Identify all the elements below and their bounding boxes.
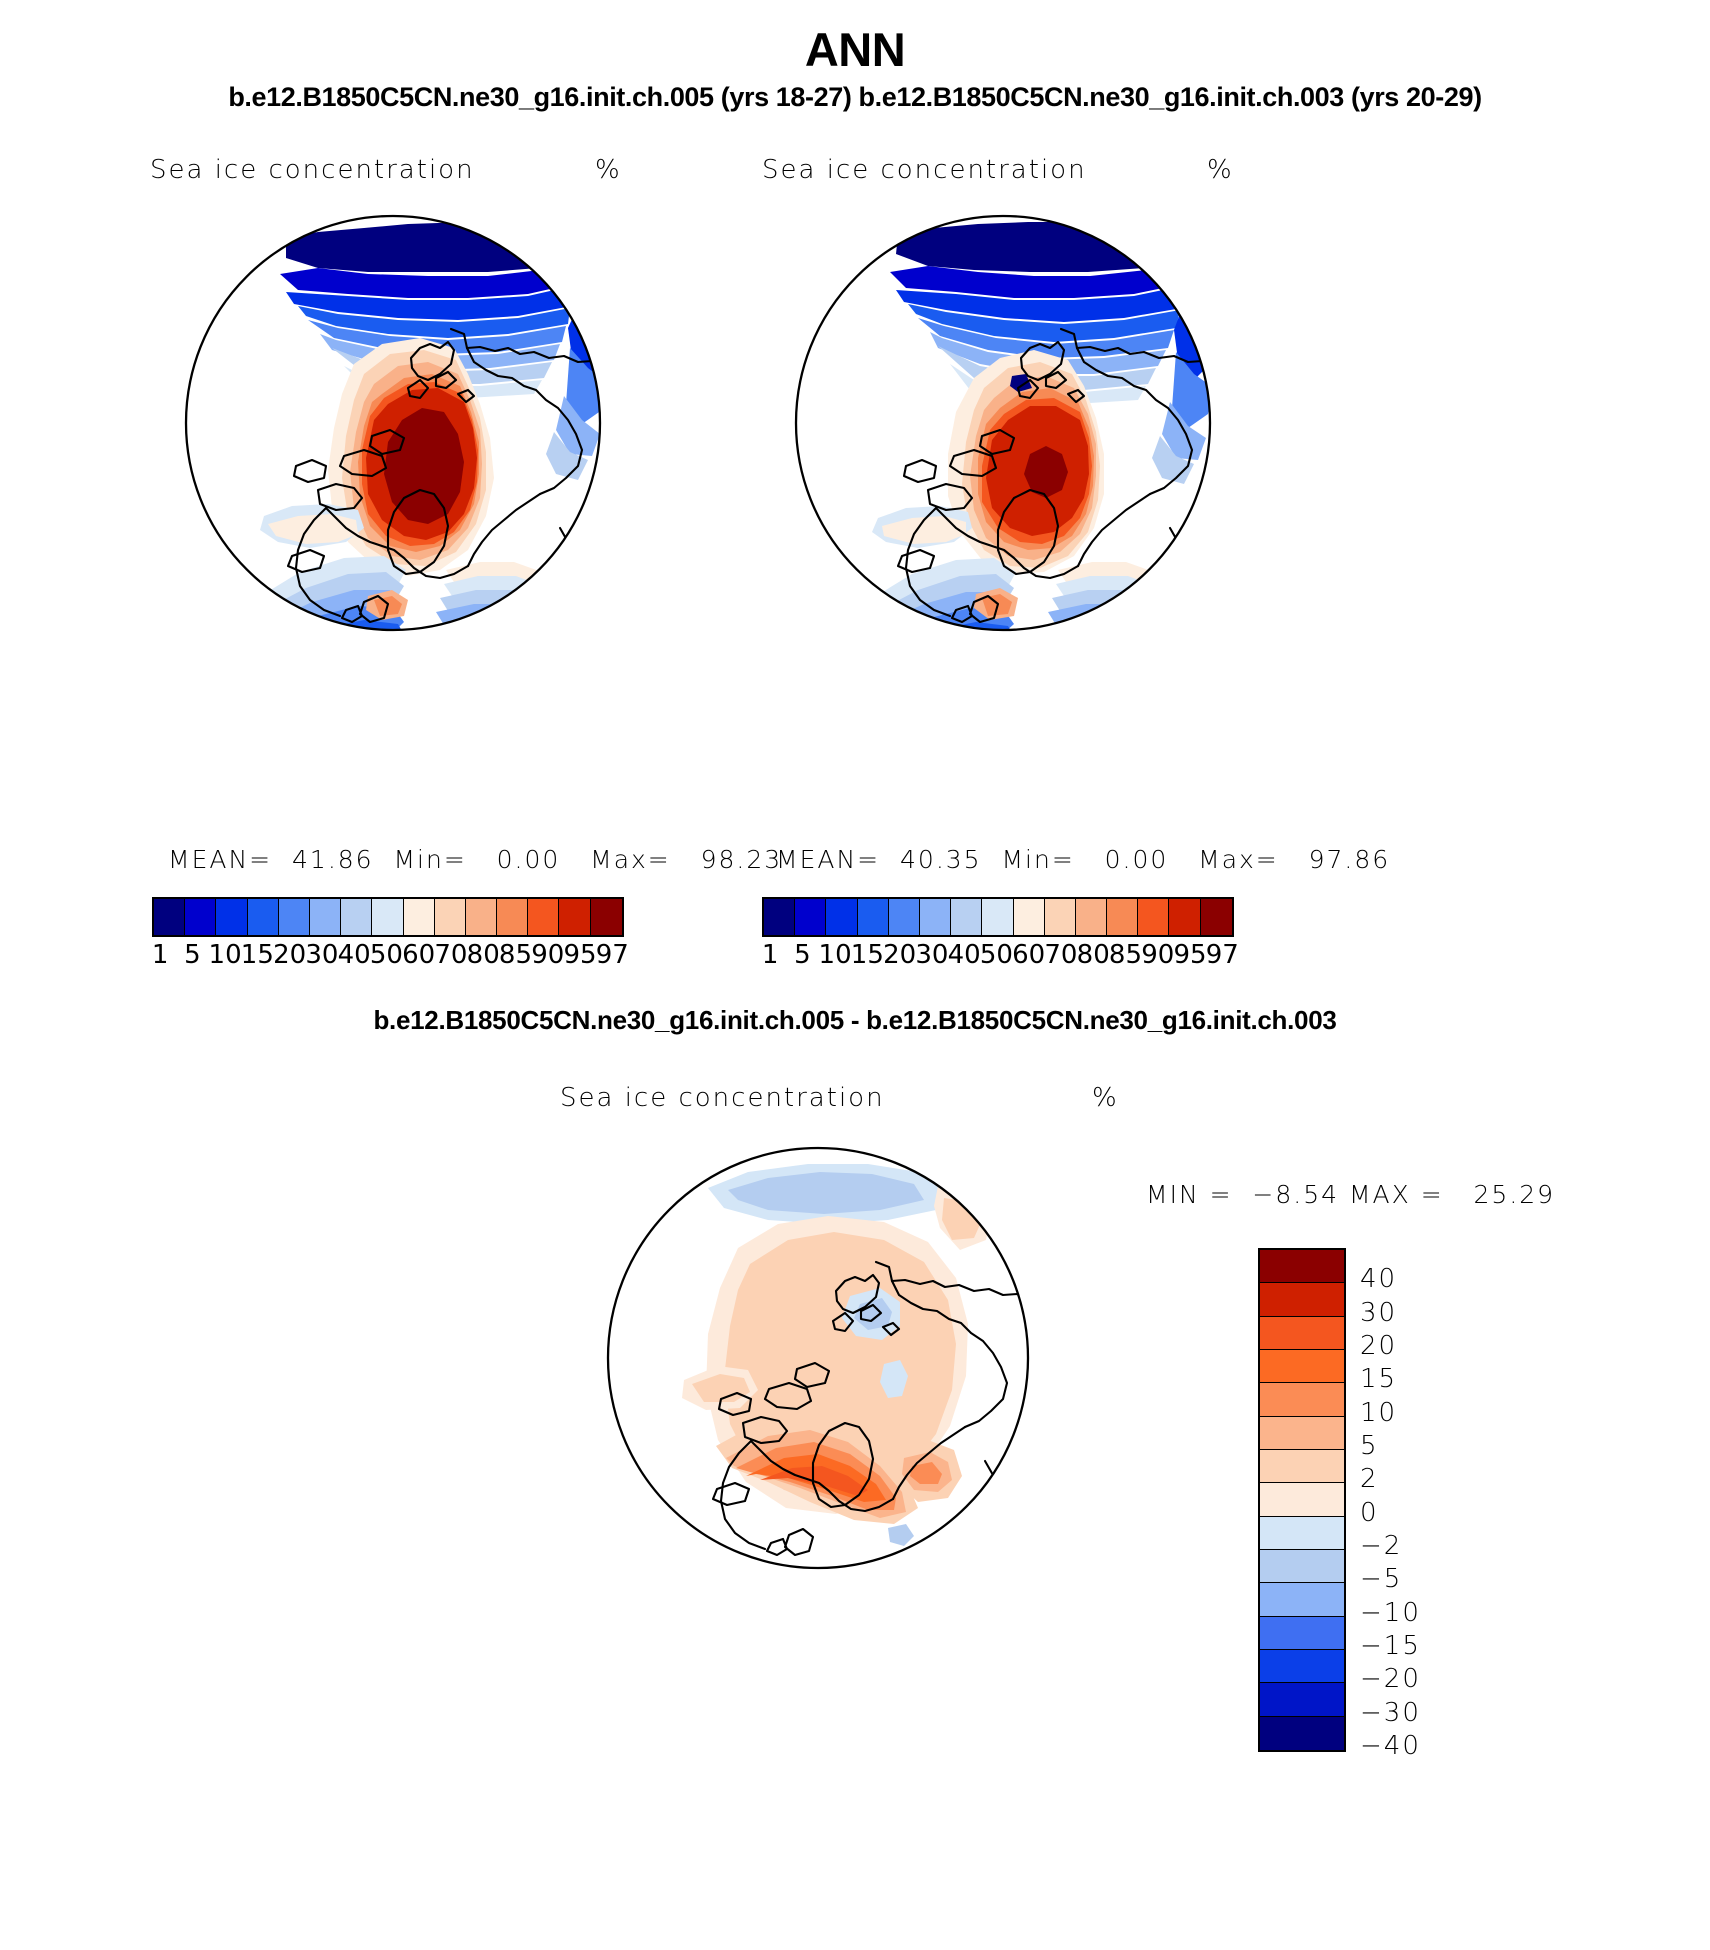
right-polar-map [778, 198, 1228, 648]
colorbar-tick-label: 85 [1109, 940, 1141, 970]
colorbar-tick-label: 20 [1360, 1331, 1397, 1361]
colorbar-swatch[interactable] [1260, 1683, 1344, 1716]
colorbar-tick-label: 10 [1360, 1398, 1397, 1428]
right-colorbar[interactable] [762, 897, 1234, 937]
difference-polar-map [588, 1128, 1048, 1588]
colorbar-swatch[interactable] [528, 899, 559, 935]
colorbar-tick-label: 15 [851, 940, 883, 970]
colorbar-swatch[interactable] [1260, 1317, 1344, 1350]
colorbar-swatch[interactable] [154, 899, 185, 935]
colorbar-swatch[interactable] [1014, 899, 1045, 935]
colorbar-swatch[interactable] [1260, 1350, 1344, 1383]
colorbar-tick-label: 70 [434, 940, 466, 970]
colorbar-tick-label: 70 [1044, 940, 1076, 970]
colorbar-tick-label: 1 [144, 940, 176, 970]
colorbar-tick-label: 95 [563, 940, 595, 970]
colorbar-swatch[interactable] [1260, 1383, 1344, 1416]
colorbar-tick-label: 30 [305, 940, 337, 970]
colorbar-swatch[interactable] [1260, 1283, 1344, 1316]
colorbar-tick-label: 10 [209, 940, 241, 970]
colorbar-tick-label: 95 [1173, 940, 1205, 970]
colorbar-tick-label: 60 [402, 940, 434, 970]
colorbar-tick-label: 40 [948, 940, 980, 970]
colorbar-swatch[interactable] [826, 899, 857, 935]
colorbar-swatch[interactable] [1260, 1650, 1344, 1683]
colorbar-tick-label: 10 [819, 940, 851, 970]
colorbar-tick-label: 0 [1360, 1498, 1379, 1528]
colorbar-tick-label: 50 [370, 940, 402, 970]
colorbar-swatch[interactable] [185, 899, 216, 935]
colorbar-tick-label: 1 [754, 940, 786, 970]
colorbar-swatch[interactable] [1260, 1483, 1344, 1516]
colorbar-swatch[interactable] [951, 899, 982, 935]
diff-panel-variable-label: Sea ice concentration [560, 1083, 885, 1113]
colorbar-swatch[interactable] [435, 899, 466, 935]
right-colorbar-labels: 1510152030405060708085909597 [754, 940, 1238, 970]
left-panel-stats: MEAN= 41.86 Min= 0.00 Max= 98.23 [168, 845, 782, 874]
colorbar-tick-label: −20 [1360, 1664, 1421, 1694]
colorbar-tick-label: 15 [241, 940, 273, 970]
colorbar-swatch[interactable] [764, 899, 795, 935]
colorbar-tick-label: 30 [1360, 1298, 1397, 1328]
left-colorbar[interactable] [152, 897, 624, 937]
colorbar-tick-label: 5 [1360, 1431, 1379, 1461]
colorbar-tick-label: −30 [1360, 1698, 1421, 1728]
figure-canvas: ANN b.e12.B1850C5CN.ne30_g16.init.ch.005… [0, 0, 1710, 1950]
colorbar-swatch[interactable] [1107, 899, 1138, 935]
colorbar-tick-label: −5 [1360, 1564, 1402, 1594]
colorbar-swatch[interactable] [1260, 1583, 1344, 1616]
difference-colorbar-labels: 4030201510520−2−5−10−15−20−30−40 [1360, 1248, 1480, 1748]
colorbar-tick-label: 80 [1077, 940, 1109, 970]
colorbar-tick-label: 5 [176, 940, 208, 970]
colorbar-swatch[interactable] [1260, 1417, 1344, 1450]
colorbar-tick-label: 90 [531, 940, 563, 970]
colorbar-swatch[interactable] [795, 899, 826, 935]
right-panel-units: % [1207, 155, 1234, 185]
colorbar-tick-label: −2 [1360, 1531, 1402, 1561]
colorbar-swatch[interactable] [1169, 899, 1200, 935]
colorbar-tick-label: −40 [1360, 1731, 1421, 1761]
colorbar-tick-label: 90 [1141, 940, 1173, 970]
colorbar-swatch[interactable] [372, 899, 403, 935]
colorbar-tick-label: 20 [273, 940, 305, 970]
colorbar-tick-label: 40 [338, 940, 370, 970]
colorbar-tick-label: 20 [883, 940, 915, 970]
case-subtitle: b.e12.B1850C5CN.ne30_g16.init.ch.005 (yr… [0, 82, 1710, 113]
colorbar-swatch[interactable] [1260, 1550, 1344, 1583]
colorbar-swatch[interactable] [1045, 899, 1076, 935]
left-panel-variable-label: Sea ice concentration [150, 155, 475, 185]
colorbar-swatch[interactable] [1076, 899, 1107, 935]
difference-title: b.e12.B1850C5CN.ne30_g16.init.ch.005 - b… [0, 1005, 1710, 1036]
colorbar-swatch[interactable] [1260, 1250, 1344, 1283]
colorbar-tick-label: 5 [786, 940, 818, 970]
colorbar-swatch[interactable] [591, 899, 622, 935]
colorbar-swatch[interactable] [889, 899, 920, 935]
colorbar-tick-label: 97 [1206, 940, 1238, 970]
colorbar-swatch[interactable] [858, 899, 889, 935]
colorbar-swatch[interactable] [1260, 1517, 1344, 1550]
colorbar-tick-label: −10 [1360, 1598, 1421, 1628]
colorbar-tick-label: 40 [1360, 1264, 1397, 1294]
colorbar-tick-label: 60 [1012, 940, 1044, 970]
right-panel-variable-label: Sea ice concentration [762, 155, 1087, 185]
colorbar-tick-label: 15 [1360, 1364, 1397, 1394]
left-panel-units: % [595, 155, 622, 185]
colorbar-swatch[interactable] [1260, 1717, 1344, 1750]
colorbar-tick-label: 80 [467, 940, 499, 970]
colorbar-swatch[interactable] [982, 899, 1013, 935]
colorbar-swatch[interactable] [1138, 899, 1169, 935]
colorbar-tick-label: 50 [980, 940, 1012, 970]
colorbar-swatch[interactable] [279, 899, 310, 935]
difference-stats: MIN = −8.54 MAX = 25.29 [1146, 1180, 1555, 1209]
colorbar-swatch[interactable] [466, 899, 497, 935]
colorbar-swatch[interactable] [920, 899, 951, 935]
colorbar-swatch[interactable] [1201, 899, 1232, 935]
colorbar-swatch[interactable] [1260, 1450, 1344, 1483]
diff-panel-units: % [1092, 1083, 1119, 1113]
colorbar-tick-label: 97 [596, 940, 628, 970]
colorbar-swatch[interactable] [559, 899, 590, 935]
colorbar-swatch[interactable] [248, 899, 279, 935]
difference-colorbar[interactable] [1258, 1248, 1346, 1752]
colorbar-tick-label: 2 [1360, 1464, 1379, 1494]
colorbar-swatch[interactable] [1260, 1617, 1344, 1650]
right-panel-stats: MEAN= 40.35 Min= 0.00 Max= 97.86 [776, 845, 1390, 874]
page-title: ANN [0, 22, 1710, 77]
colorbar-tick-label: 30 [915, 940, 947, 970]
colorbar-swatch[interactable] [310, 899, 341, 935]
left-polar-map [168, 198, 618, 648]
colorbar-swatch[interactable] [404, 899, 435, 935]
colorbar-tick-label: 85 [499, 940, 531, 970]
colorbar-swatch[interactable] [216, 899, 247, 935]
colorbar-swatch[interactable] [341, 899, 372, 935]
left-colorbar-labels: 1510152030405060708085909597 [144, 940, 628, 970]
colorbar-swatch[interactable] [497, 899, 528, 935]
colorbar-tick-label: −15 [1360, 1631, 1421, 1661]
